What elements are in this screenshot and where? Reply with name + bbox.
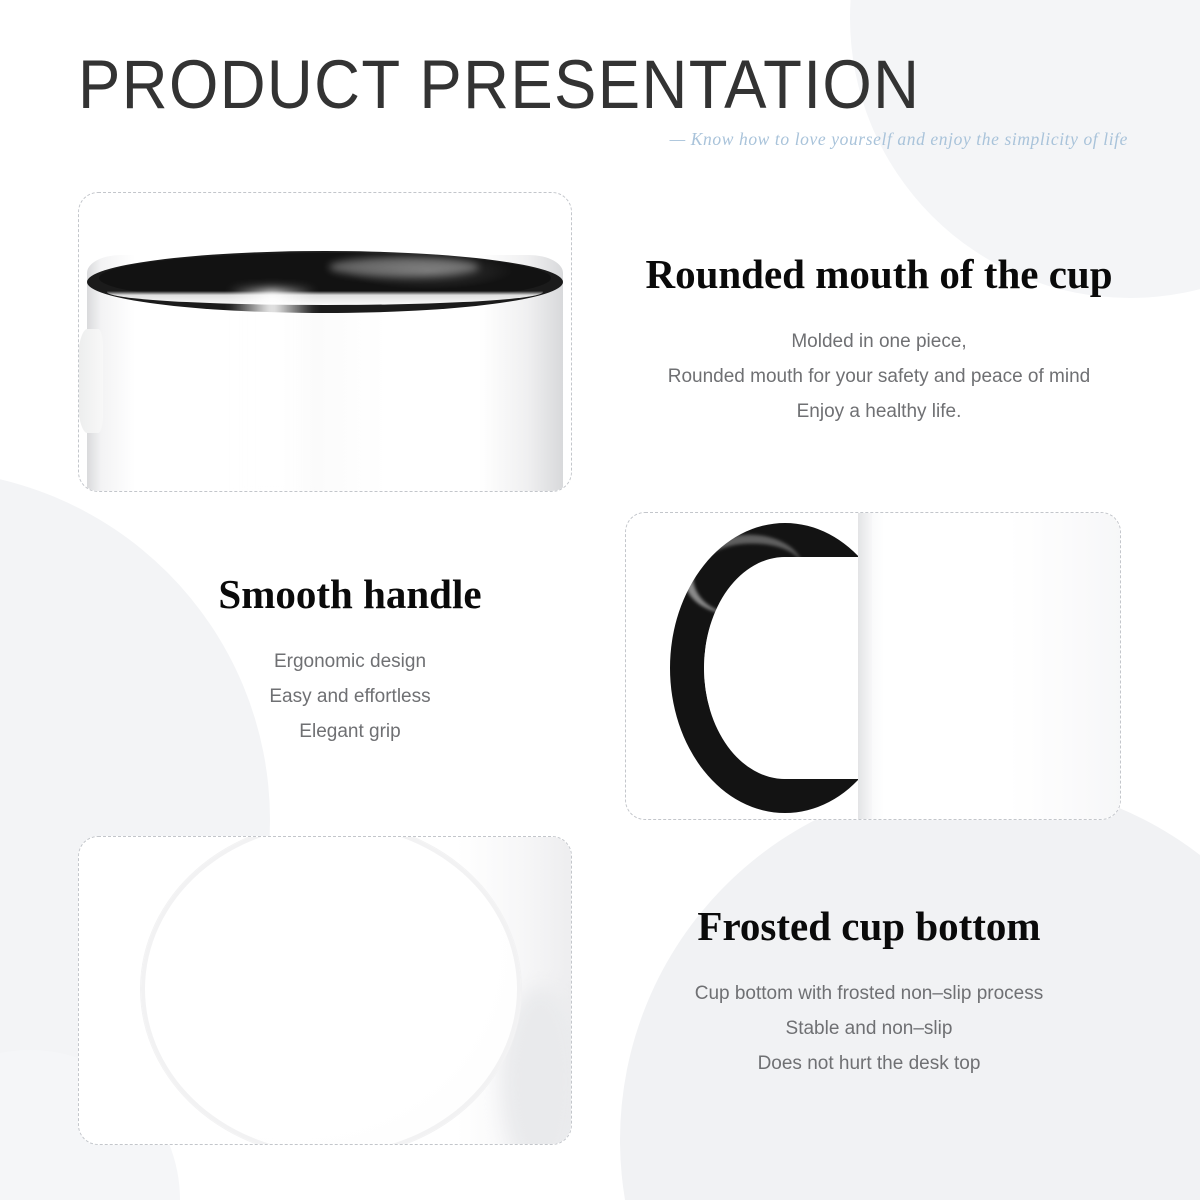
caption-line: Cup bottom with frosted non–slip process (595, 976, 1143, 1011)
mug-handle-nub (79, 329, 103, 433)
caption-line: Easy and effortless (75, 679, 625, 714)
caption-line: Elegant grip (75, 714, 625, 749)
caption-line: Does not hurt the desk top (595, 1046, 1143, 1081)
photo-frame-rounded-mouth (78, 192, 572, 492)
caption-line: Molded in one piece, (605, 324, 1153, 359)
page-title: PRODUCT PRESENTATION (78, 46, 920, 124)
mug-rim-sheen (329, 257, 479, 277)
product-presentation-page: PRODUCT PRESENTATION — Know how to love … (0, 0, 1200, 1200)
caption-title-rounded-mouth: Rounded mouth of the cup (605, 250, 1153, 298)
mug-body-left-edge (858, 513, 872, 819)
caption-frosted-bottom: Frosted cup bottom Cup bottom with frost… (595, 902, 1143, 1081)
caption-title-frosted-bottom: Frosted cup bottom (595, 902, 1143, 950)
caption-line: Ergonomic design (75, 644, 625, 679)
mug-body-gloss (229, 289, 315, 491)
mug-rim-highlight (107, 279, 543, 305)
caption-title-smooth-handle: Smooth handle (75, 570, 625, 618)
photo-frame-smooth-handle (625, 512, 1121, 820)
mug-bottom-rim (141, 837, 521, 1144)
mug-handle-photo (626, 513, 1120, 819)
caption-smooth-handle: Smooth handle Ergonomic design Easy and … (75, 570, 625, 749)
caption-line: Stable and non–slip (595, 1011, 1143, 1046)
mug-body-panel (858, 513, 1120, 819)
caption-lines-rounded-mouth: Molded in one piece, Rounded mouth for y… (605, 324, 1153, 429)
mug-bottom-photo (79, 837, 571, 1144)
caption-rounded-mouth: Rounded mouth of the cup Molded in one p… (605, 250, 1153, 429)
page-subtitle: — Know how to love yourself and enjoy th… (670, 129, 1128, 150)
caption-lines-smooth-handle: Ergonomic design Easy and effortless Ele… (75, 644, 625, 749)
caption-lines-frosted-bottom: Cup bottom with frosted non–slip process… (595, 976, 1143, 1081)
caption-line: Rounded mouth for your safety and peace … (605, 359, 1153, 394)
caption-line: Enjoy a healthy life. (605, 394, 1153, 429)
photo-frame-frosted-bottom (78, 836, 572, 1145)
mug-mouth-photo (79, 193, 571, 491)
